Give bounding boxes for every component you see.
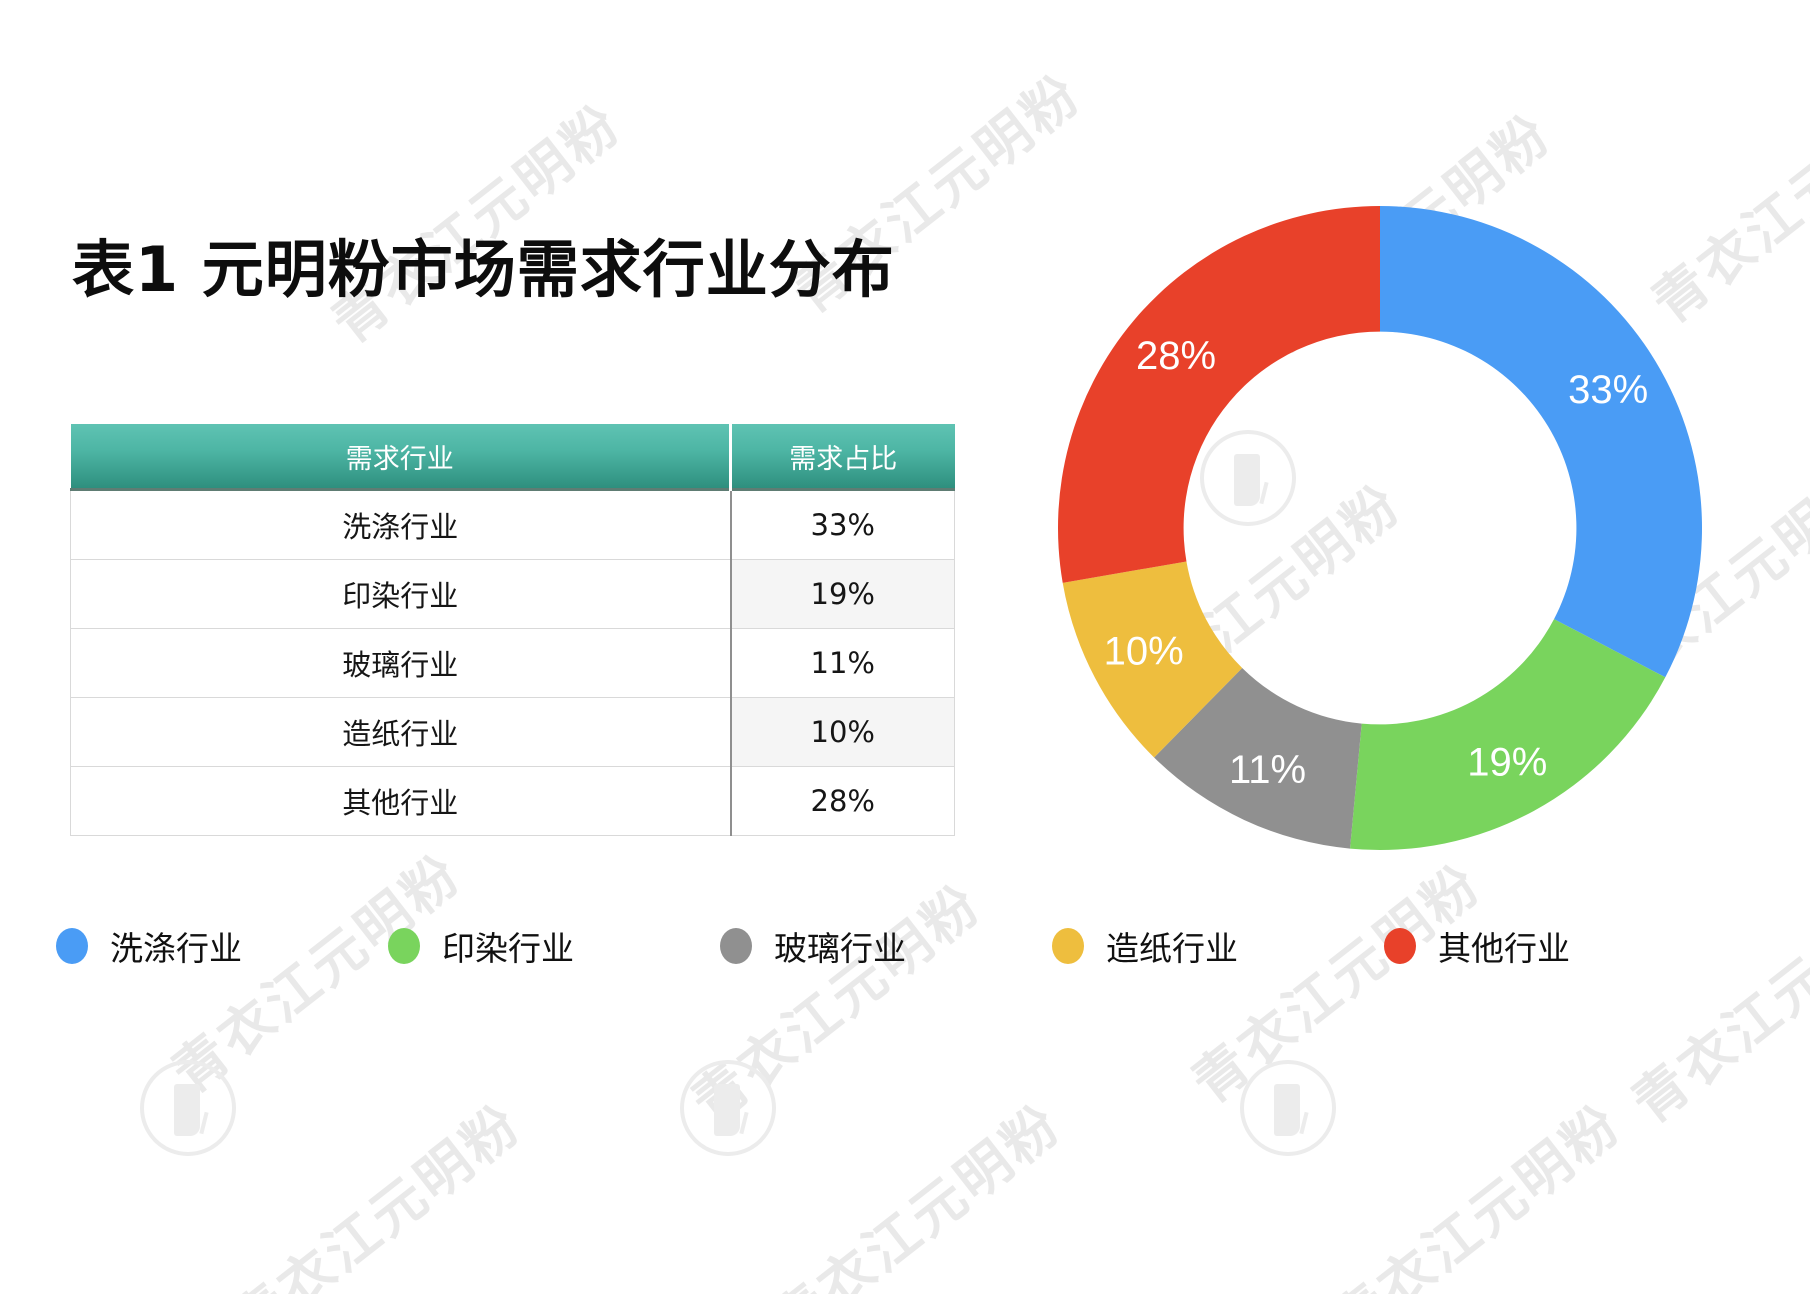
cell-industry: 洗涤行业 [71,490,731,560]
legend-item-label: 玻璃行业 [774,922,906,970]
legend-item[interactable]: 造纸行业 [1052,922,1384,970]
circle-swatch-icon [720,928,752,964]
chart-legend: 洗涤行业印染行业玻璃行业造纸行业其他行业 [56,915,1716,977]
cell-share: 28% [731,767,955,836]
table-header: 需求行业 需求占比 [71,424,955,490]
cell-share: 10% [731,698,955,767]
legend-item-label: 其他行业 [1438,922,1570,970]
cell-share: 33% [731,490,955,560]
cell-share: 11% [731,629,955,698]
cell-industry: 其他行业 [71,767,731,836]
donut-slice[interactable] [1380,206,1702,677]
table-row: 其他行业28% [71,767,955,836]
table-row: 印染行业19% [71,560,955,629]
donut-slice-label: 11% [1229,748,1306,792]
cell-industry: 玻璃行业 [71,629,731,698]
circle-swatch-icon [1384,928,1416,964]
donut-chart-svg: 33%19%11%10%28% [1050,198,1710,858]
donut-slice-label: 19% [1467,740,1547,784]
cell-industry: 造纸行业 [71,698,731,767]
circle-swatch-icon [1052,928,1084,964]
donut-slice[interactable] [1058,206,1380,583]
table-header-row: 需求行业 需求占比 [71,424,955,490]
cell-industry: 印染行业 [71,560,731,629]
legend-item-label: 洗涤行业 [110,922,242,970]
donut-slice-group [1058,206,1702,850]
page-title: 表1 元明粉市场需求行业分布 [72,234,895,305]
column-header-share: 需求占比 [731,424,955,490]
donut-slice-label: 28% [1136,334,1216,378]
table-body: 洗涤行业33%印染行业19%玻璃行业11%造纸行业10%其他行业28% [71,490,955,836]
legend-item[interactable]: 其他行业 [1384,922,1716,970]
table-row: 造纸行业10% [71,698,955,767]
table-row: 洗涤行业33% [71,490,955,560]
cell-share: 19% [731,560,955,629]
legend-item[interactable]: 印染行业 [388,922,720,970]
demand-distribution-table: 需求行业 需求占比 洗涤行业33%印染行业19%玻璃行业11%造纸行业10%其他… [70,424,955,836]
circle-swatch-icon [388,928,420,964]
page-content: 表1 元明粉市场需求行业分布 需求行业 需求占比 洗涤行业33%印染行业19%玻… [0,0,1810,1294]
legend-item-label: 印染行业 [442,922,574,970]
circle-swatch-icon [56,928,88,964]
legend-item[interactable]: 洗涤行业 [56,922,388,970]
donut-chart: 33%19%11%10%28% [1050,198,1710,858]
donut-slice-label: 10% [1104,630,1184,674]
donut-slice[interactable] [1350,619,1665,850]
donut-slice-label: 33% [1568,368,1648,412]
table-row: 玻璃行业11% [71,629,955,698]
legend-item-label: 造纸行业 [1106,922,1238,970]
column-header-industry: 需求行业 [71,424,731,490]
legend-item[interactable]: 玻璃行业 [720,922,1052,970]
